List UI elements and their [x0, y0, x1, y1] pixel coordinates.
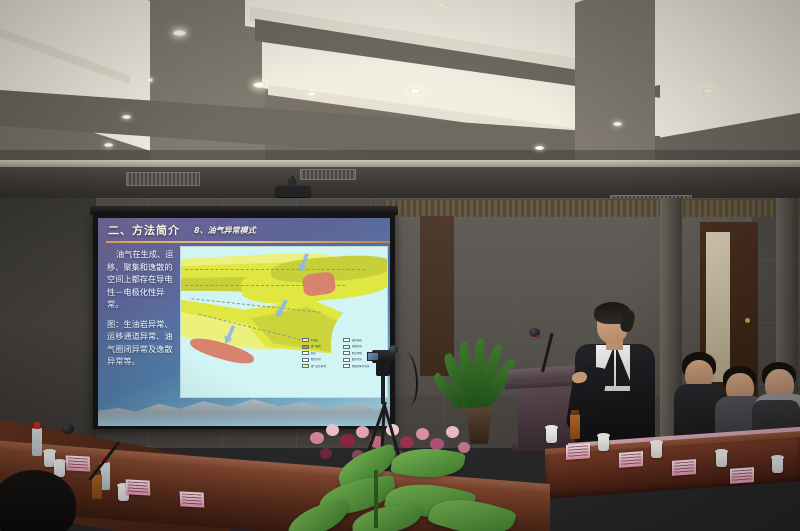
- legend-swatch: [343, 338, 350, 342]
- ceiling-light: [173, 30, 186, 36]
- slide-paragraph-2: 图：生油岩异常、运移通道异常、油气圈闭异常及逸散异常等。: [107, 318, 175, 368]
- coffered-ceiling: [0, 0, 800, 172]
- tea-cup: [651, 443, 662, 458]
- legend-item: 生油岩: [302, 338, 340, 342]
- screen-frame: 二、方法简介 8、油气异常模式 油气在生成、运移、聚集和逸散的空间上都存在导电性…: [93, 214, 395, 429]
- legend-swatch: [302, 351, 309, 355]
- name-card: [566, 443, 590, 460]
- legend-item: 断层: [302, 351, 340, 355]
- legend-swatch: [302, 358, 309, 362]
- ceiling-light: [253, 82, 266, 88]
- slide-subtitle: 8、油气异常模式: [194, 225, 256, 236]
- air-vent: [126, 172, 200, 186]
- ceiling-light: [307, 92, 316, 96]
- legend-item: 油气圈闭: [302, 345, 340, 349]
- legend-item: 逸散异常: [343, 345, 381, 349]
- thermos-flask: [570, 414, 580, 439]
- conference-room-photo: 二、方法简介 8、油气异常模式 油气在生成、运移、聚集和逸散的空间上都存在导电性…: [0, 0, 800, 531]
- legend-item: 电性异常: [302, 358, 340, 362]
- figure-legend: 生油岩 运移通道 油气圈闭 逸散异常 断层 地层界线 电性异常: [302, 338, 384, 394]
- ceiling-light: [122, 115, 131, 119]
- plant-stem: [374, 470, 378, 528]
- ceiling-light: [409, 88, 422, 94]
- slide-title: 二、方法简介: [108, 222, 180, 238]
- legend-swatch: [302, 338, 309, 342]
- microphone-indicator: [536, 335, 540, 339]
- ceiling-light: [104, 143, 113, 147]
- slide-body-text: 油气在生成、运移、聚集和逸散的空间上都存在导电性－电极化性异常。 图：生油岩异常…: [107, 248, 175, 375]
- name-card: [66, 455, 91, 471]
- ceiling-projector: [276, 186, 310, 197]
- projection-screen: 二、方法简介 8、油气异常模式 油气在生成、运移、聚集和逸散的空间上都存在导电性…: [93, 214, 395, 429]
- camcorder-lcd-screen: [367, 352, 379, 361]
- door-knob-icon[interactable]: [745, 318, 750, 323]
- legend-swatch: [343, 358, 350, 362]
- tripod-head: [376, 362, 390, 376]
- legend-swatch: [302, 345, 309, 349]
- wall-decor-band: [386, 200, 800, 217]
- name-card: [126, 479, 151, 495]
- ceiling-light: [702, 88, 715, 94]
- name-card: [180, 491, 205, 507]
- soffit-trim: [0, 160, 800, 167]
- legend-swatch: [343, 364, 350, 368]
- tea-cup: [716, 452, 727, 467]
- legend-item: 油气显示井位: [302, 364, 340, 368]
- left-wall: [0, 198, 96, 448]
- slide-title-rule: [106, 241, 390, 243]
- tea-cup: [546, 428, 557, 443]
- geology-figure: 生油岩 运移通道 油气圈闭 逸散异常 断层 地层界线 电性异常: [180, 246, 388, 398]
- tripod-center-column: [381, 374, 385, 404]
- legend-swatch: [302, 364, 309, 368]
- air-vent: [300, 169, 356, 180]
- microphone-icon: [62, 424, 74, 434]
- tea-cup: [772, 458, 783, 473]
- presentation-slide: 二、方法简介 8、油气异常模式 油气在生成、运移、聚集和逸散的空间上都存在导电性…: [98, 218, 390, 426]
- water-bottle: [32, 428, 42, 456]
- thermos-flask: [92, 474, 102, 499]
- ceiling-light: [437, 3, 446, 7]
- name-card: [672, 459, 696, 476]
- legend-item: 运移通道: [343, 338, 381, 342]
- legend-swatch: [343, 345, 350, 349]
- ceiling-light: [613, 122, 622, 126]
- eyeglasses-icon: [598, 320, 624, 326]
- ceiling-light: [144, 78, 153, 82]
- name-card: [730, 467, 754, 484]
- legend-swatch: [343, 351, 350, 355]
- tea-cup: [598, 436, 609, 451]
- ceiling-light: [535, 146, 544, 150]
- slide-paragraph-1: 油气在生成、运移、聚集和逸散的空间上都存在导电性－电极化性异常。: [107, 248, 175, 311]
- name-card: [619, 451, 643, 468]
